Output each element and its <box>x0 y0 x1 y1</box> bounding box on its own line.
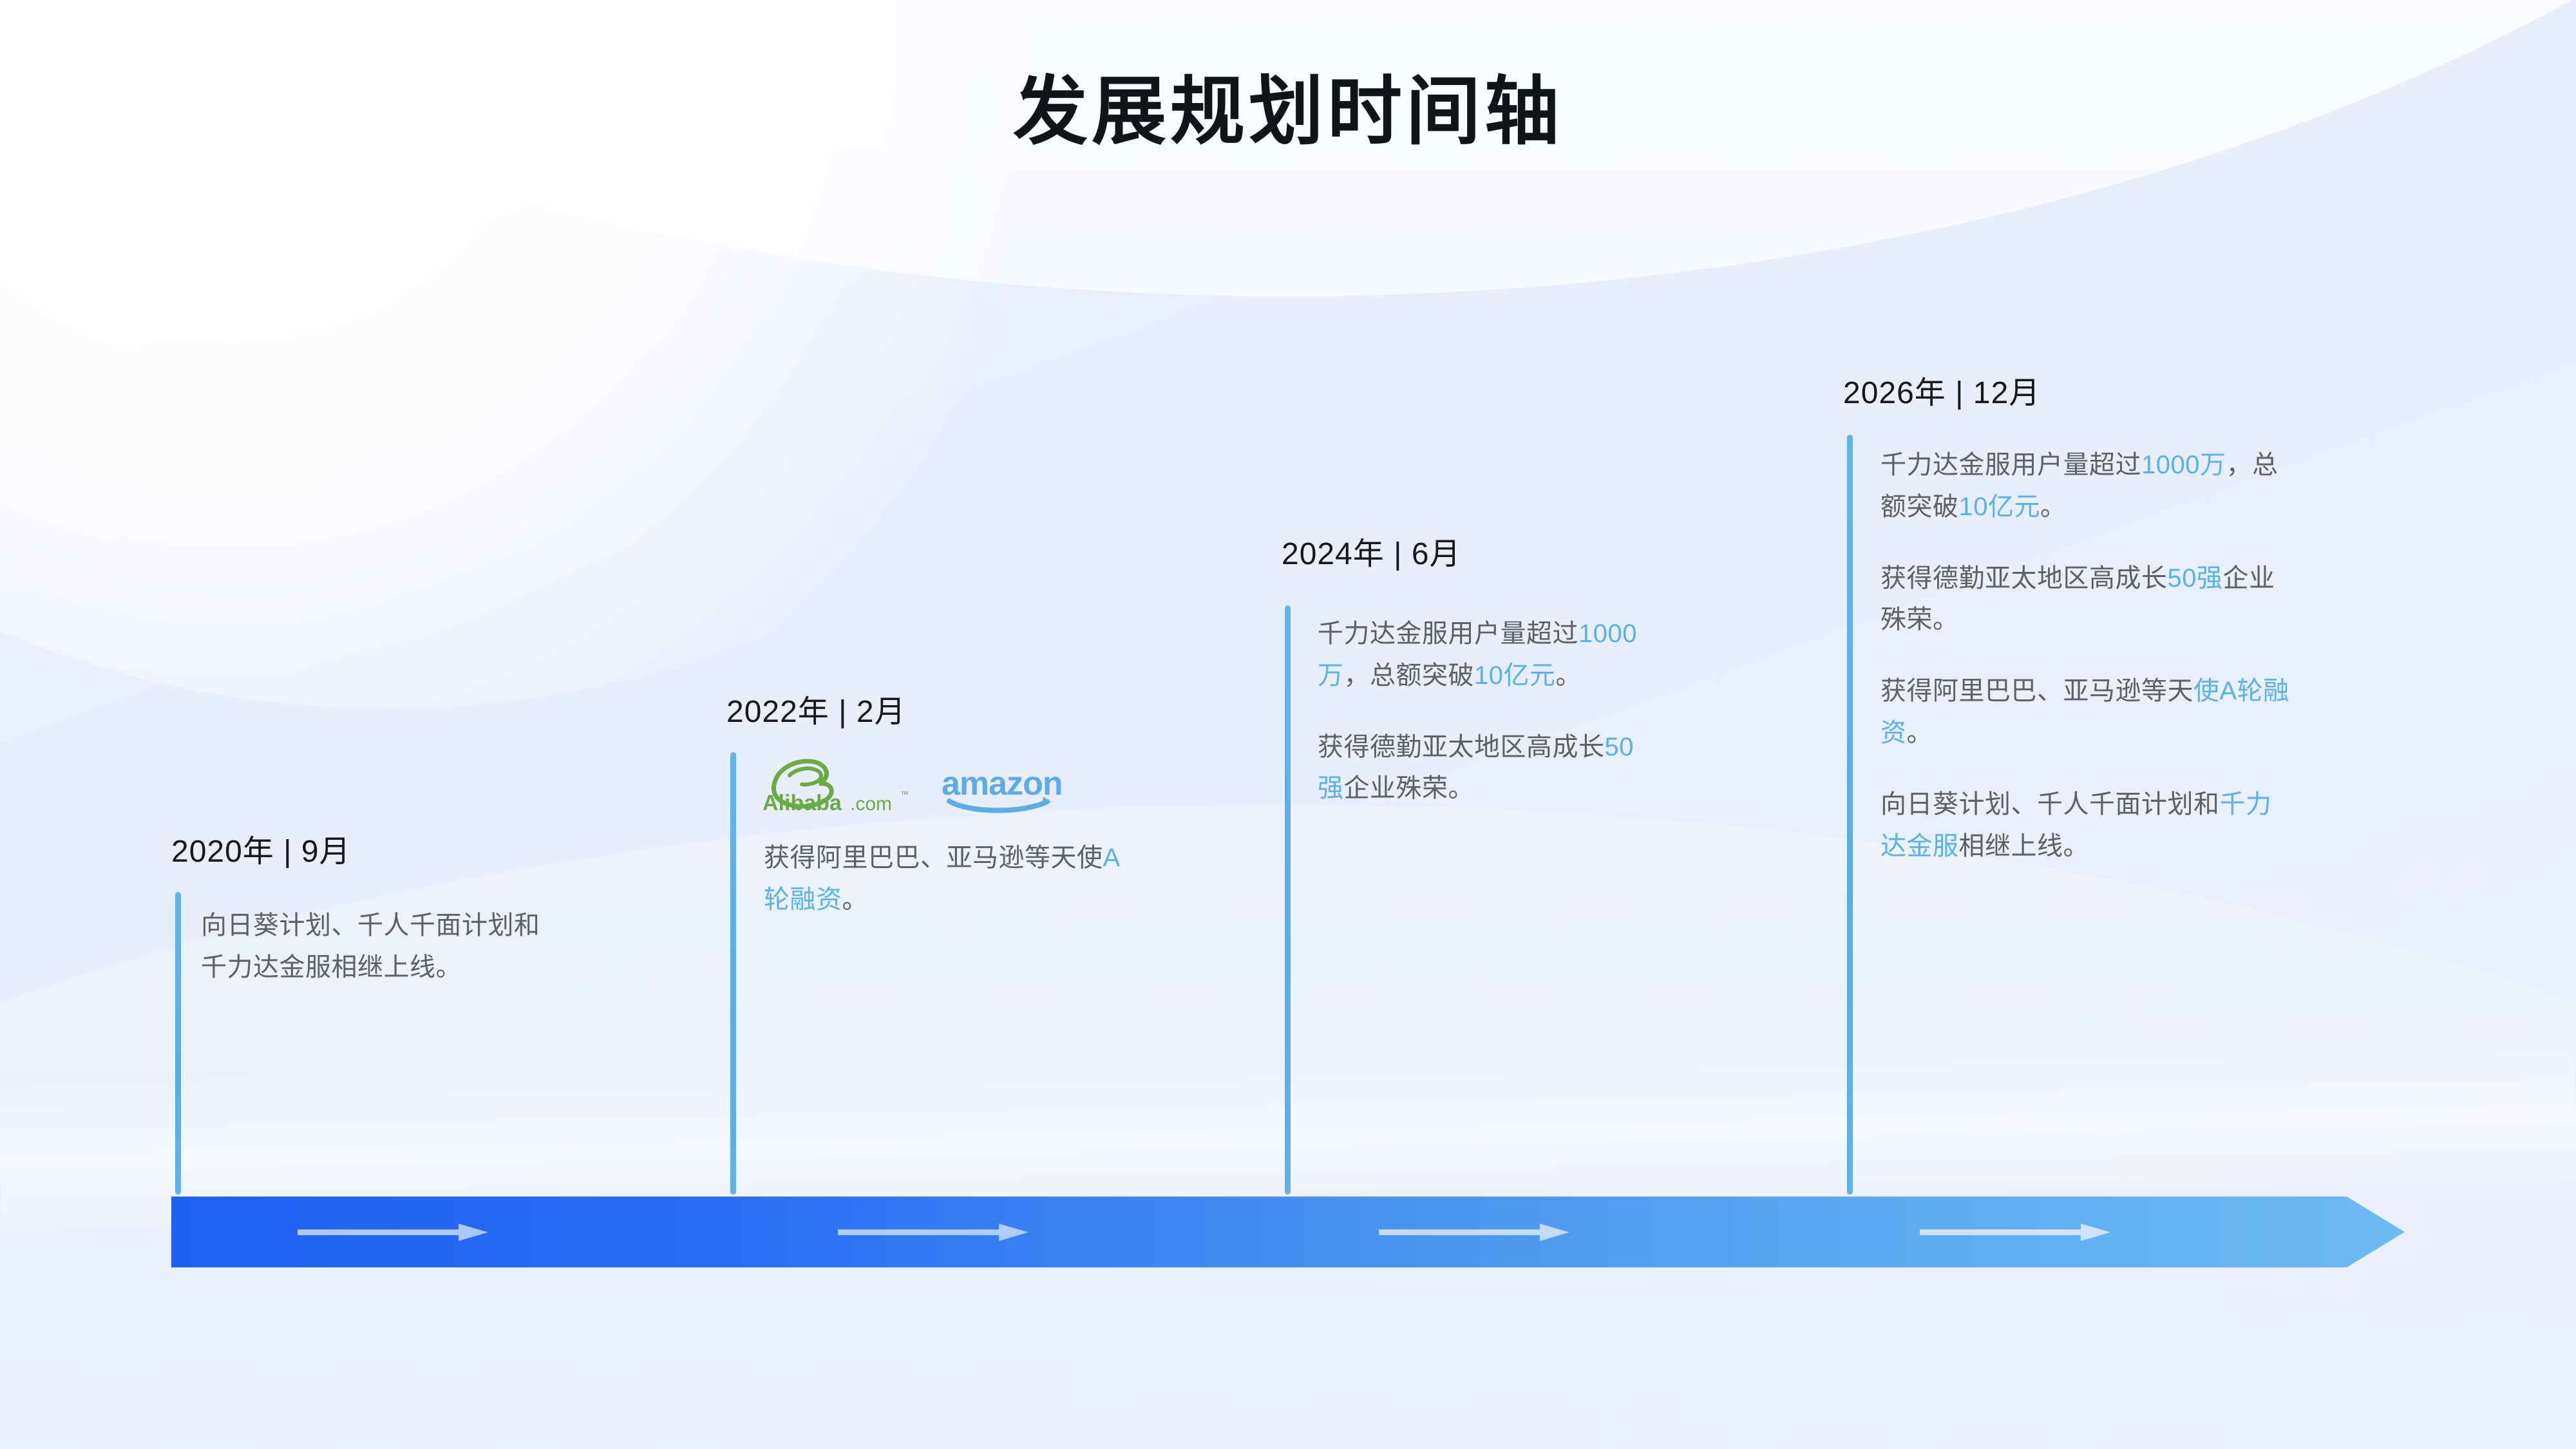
milestone-rule-2026 <box>1847 435 1853 1195</box>
milestone-paragraph: 向日葵计划、千人千面计划和千力达金服相继上线。 <box>1880 784 2293 867</box>
body-text: 企业殊荣。 <box>1344 774 1475 802</box>
milestone-paragraph: 千力达金服用户量超过1000万，总额突破10亿元。 <box>1318 613 1653 697</box>
milestone-body-2020: 向日葵计划、千人千面计划和千力达金服相继上线。 <box>201 905 562 989</box>
milestone-paragraph: 千力达金服用户量超过1000万，总额突破10亿元。 <box>1880 444 2293 528</box>
body-text: 获得阿里巴巴、亚马逊等天 <box>1880 677 2193 705</box>
milestone-paragraph: 获得阿里巴巴、亚马逊等天使A轮融资。 <box>764 837 1124 921</box>
amazon-logo: amazon <box>940 765 1063 817</box>
svg-text:Alibaba: Alibaba <box>762 791 842 814</box>
body-text: 。 <box>1556 661 1582 690</box>
slide-canvas: 发展规划时间轴 2020年 | 9月 向日葵计划、千人千面计划和千力达金服相继上… <box>0 0 2576 1449</box>
body-text: 千力达金服用户量超过 <box>1318 620 1578 648</box>
milestone-date-2026: 2026年 | 12月 <box>1843 367 2040 412</box>
body-text: 获得德勤亚太地区高成长 <box>1880 564 2168 592</box>
milestone-date-2022: 2022年 | 2月 <box>726 686 906 731</box>
milestone-date-2020: 2020年 | 9月 <box>171 826 351 871</box>
body-text: 千力达金服用户量超过 <box>1880 451 2141 479</box>
body-text: ，总额突破 <box>1344 661 1475 690</box>
body-text: 向日葵计划、千人千面计划和 <box>1880 790 2220 819</box>
svg-text:amazon: amazon <box>942 765 1063 802</box>
body-text: 相继上线。 <box>1959 832 2090 860</box>
body-text: 向日葵计划、千人千面计划和千力达金服相继上线。 <box>201 911 540 981</box>
body-text: 。 <box>2040 493 2067 521</box>
milestone-rule-2020 <box>175 892 181 1195</box>
body-text: 获得阿里巴巴、亚马逊等天使 <box>764 844 1103 872</box>
milestone-rule-2024 <box>1285 605 1291 1195</box>
milestone-paragraph: 获得德勤亚太地区高成长50强企业殊荣。 <box>1880 558 2293 641</box>
highlighted-text: 10亿元 <box>1959 493 2041 521</box>
highlighted-text: 1000万 <box>2141 451 2226 479</box>
page-title: 发展规划时间轴 <box>0 71 2576 153</box>
body-text: 获得德勤亚太地区高成长 <box>1318 733 1605 761</box>
timeline-bar <box>171 1197 2405 1267</box>
highlighted-text: 10亿元 <box>1474 661 1556 690</box>
svg-text:.com: .com <box>850 793 892 814</box>
milestone-body-2024: 千力达金服用户量超过1000万，总额突破10亿元。获得德勤亚太地区高成长50强企… <box>1318 613 1653 810</box>
milestone-date-2024: 2024年 | 6月 <box>1282 528 1461 573</box>
milestone-body-2022: 获得阿里巴巴、亚马逊等天使A轮融资。 <box>764 837 1124 921</box>
milestone-paragraph: 获得德勤亚太地区高成长50强企业殊荣。 <box>1318 726 1653 810</box>
highlighted-text: 50强 <box>2168 564 2223 592</box>
alibaba-logo: Alibaba .com ™ <box>760 752 908 817</box>
body-text: 。 <box>842 885 869 914</box>
milestone-rule-2022 <box>730 752 736 1195</box>
svg-text:™: ™ <box>900 790 908 799</box>
partner-logos: Alibaba .com ™ amazon <box>760 752 1063 817</box>
milestone-paragraph: 获得阿里巴巴、亚马逊等天使A轮融资。 <box>1880 670 2293 754</box>
milestone-body-2026: 千力达金服用户量超过1000万，总额突破10亿元。获得德勤亚太地区高成长50强企… <box>1880 444 2293 867</box>
milestone-paragraph: 向日葵计划、千人千面计划和千力达金服相继上线。 <box>201 905 562 989</box>
body-text: 。 <box>1907 719 1933 747</box>
